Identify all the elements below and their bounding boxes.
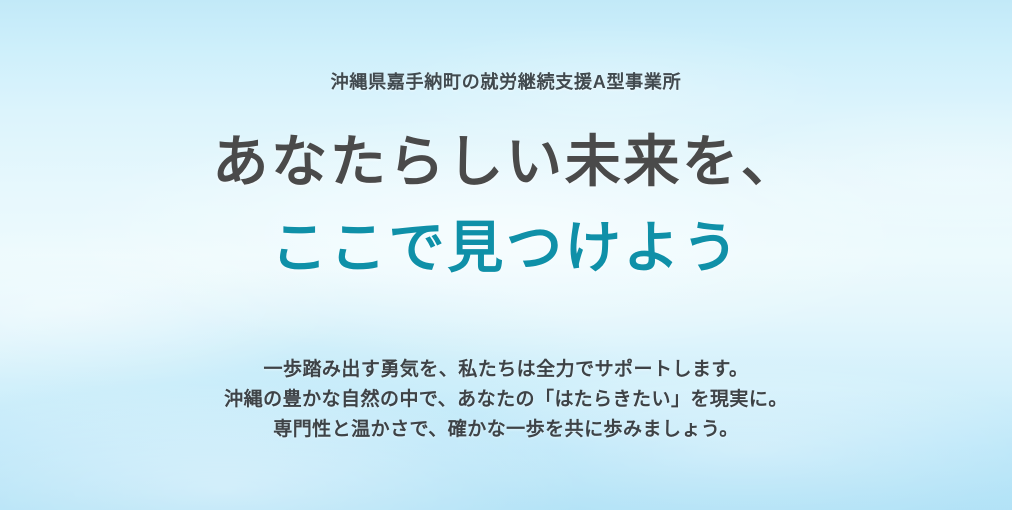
hero-section: 沖縄県嘉手納町の就労継続支援A型事業所 あなたらしい未来を、 ここで見つけよう … (0, 0, 1012, 510)
hero-eyebrow-text: 沖縄県嘉手納町の就労継続支援A型事業所 (331, 72, 682, 94)
hero-headline: あなたらしい未来を、 ここで見つけよう (212, 126, 799, 286)
hero-lede-paragraph: 一歩踏み出す勇気を、私たちは全力でサポートします。 沖縄の豊かな自然の中で、あな… (224, 355, 788, 445)
headline-line-1: あなたらしい未来を、 (212, 126, 799, 199)
lede-line-3: 専門性と温かさで、確かな一歩を共に歩みましょう。 (224, 415, 788, 445)
hero-content: 沖縄県嘉手納町の就労継続支援A型事業所 あなたらしい未来を、 ここで見つけよう … (0, 0, 1012, 510)
lede-line-2: 沖縄の豊かな自然の中で、あなたの「はたらきたい」を現実に。 (224, 385, 788, 415)
headline-line-2-accent: ここで見つけよう (212, 212, 799, 285)
lede-line-1: 一歩踏み出す勇気を、私たちは全力でサポートします。 (224, 355, 788, 385)
